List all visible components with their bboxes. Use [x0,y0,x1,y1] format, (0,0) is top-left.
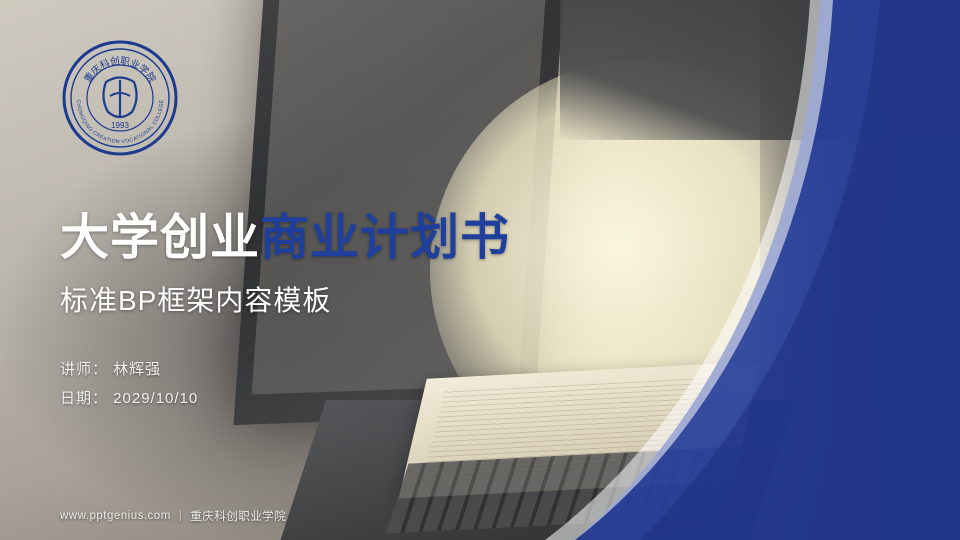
meta-presenter: 讲师： 林辉强 [60,355,198,384]
footer-separator: | [179,510,183,522]
slide-footer: www.pptgenius.com | 重庆科创职业学院 [60,508,286,524]
meta-date: 日期： 2029/10/10 [60,384,198,413]
dark-right-overlay [760,0,960,540]
slide-subtitle: 标准BP框架内容模板 [60,279,331,319]
svg-text:1993: 1993 [111,121,129,130]
footer-site[interactable]: www.pptgenius.com [60,510,171,522]
footer-organization: 重庆科创职业学院 [190,508,286,524]
title-part-rest: 商业计划书 [260,211,510,265]
school-emblem-icon: 1993 重庆科创职业学院 CHONGQING CREATION VOCATIO… [60,38,180,158]
title-part-highlight: 大学创业 [60,211,260,265]
slide-title: 大学创业商业计划书 [60,198,510,269]
slide-root: 1993 重庆科创职业学院 CHONGQING CREATION VOCATIO… [0,0,960,540]
slide-meta: 讲师： 林辉强 日期： 2029/10/10 [60,355,198,413]
